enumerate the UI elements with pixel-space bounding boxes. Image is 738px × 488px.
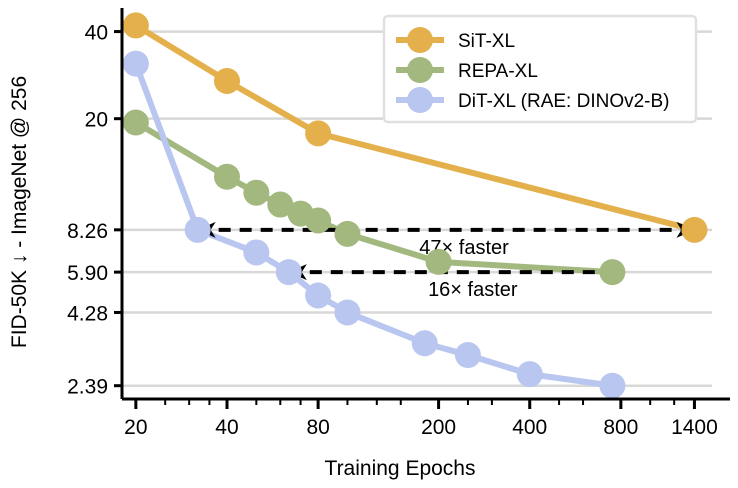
data-point-marker — [243, 180, 269, 206]
data-point-marker — [334, 221, 360, 247]
data-point-marker — [276, 259, 302, 285]
data-point-marker — [455, 342, 481, 368]
data-point-marker — [334, 299, 360, 325]
x-axis-title: Training Epochs — [325, 457, 476, 480]
data-point-marker — [599, 259, 625, 285]
data-point-marker — [185, 217, 211, 243]
data-point-marker — [412, 330, 438, 356]
data-point-marker — [305, 282, 331, 308]
figure-container: 47× faster16× faster 40208.265.904.282.3… — [0, 0, 738, 488]
data-point-marker — [243, 239, 269, 265]
annotation-label: 16× faster — [428, 279, 518, 301]
y-tick-label: 2.39 — [67, 376, 108, 399]
legend-marker — [407, 57, 433, 83]
data-point-marker — [123, 110, 149, 136]
data-point-marker — [123, 12, 149, 38]
chart-canvas: 47× faster16× faster 40208.265.904.282.3… — [0, 0, 738, 488]
x-tick-label: 1400 — [671, 416, 718, 439]
data-point-marker — [214, 68, 240, 94]
legend-marker — [407, 87, 433, 113]
data-point-marker — [214, 164, 240, 190]
y-axis-title: FID-50K ↓ - ImageNet @ 256 — [8, 76, 31, 348]
data-point-marker — [426, 249, 452, 275]
legend-label: REPA-XL — [458, 61, 538, 82]
data-point-marker — [681, 217, 707, 243]
data-point-marker — [599, 373, 625, 399]
data-point-marker — [305, 120, 331, 146]
legend: SiT-XLREPA-XLDiT-XL (RAE: DINOv2-B) — [384, 16, 696, 122]
x-tick-label: 20 — [124, 416, 147, 439]
x-tick-label: 80 — [306, 416, 329, 439]
y-tick-label: 20 — [85, 109, 108, 132]
y-tick-label: 4.28 — [67, 302, 108, 325]
x-tick-label: 200 — [421, 416, 456, 439]
legend-marker — [407, 27, 433, 53]
data-point-marker — [123, 51, 149, 77]
x-tick-label: 400 — [512, 416, 547, 439]
y-tick-label: 40 — [85, 22, 108, 45]
x-tick-label: 40 — [215, 416, 238, 439]
legend-label: SiT-XL — [458, 31, 515, 52]
x-tick-label: 800 — [603, 416, 638, 439]
legend-label: DiT-XL (RAE: DINOv2-B) — [458, 91, 670, 112]
y-tick-label: 5.90 — [67, 262, 108, 285]
data-point-marker — [305, 207, 331, 233]
y-tick-label: 8.26 — [67, 220, 108, 243]
data-point-marker — [517, 361, 543, 387]
